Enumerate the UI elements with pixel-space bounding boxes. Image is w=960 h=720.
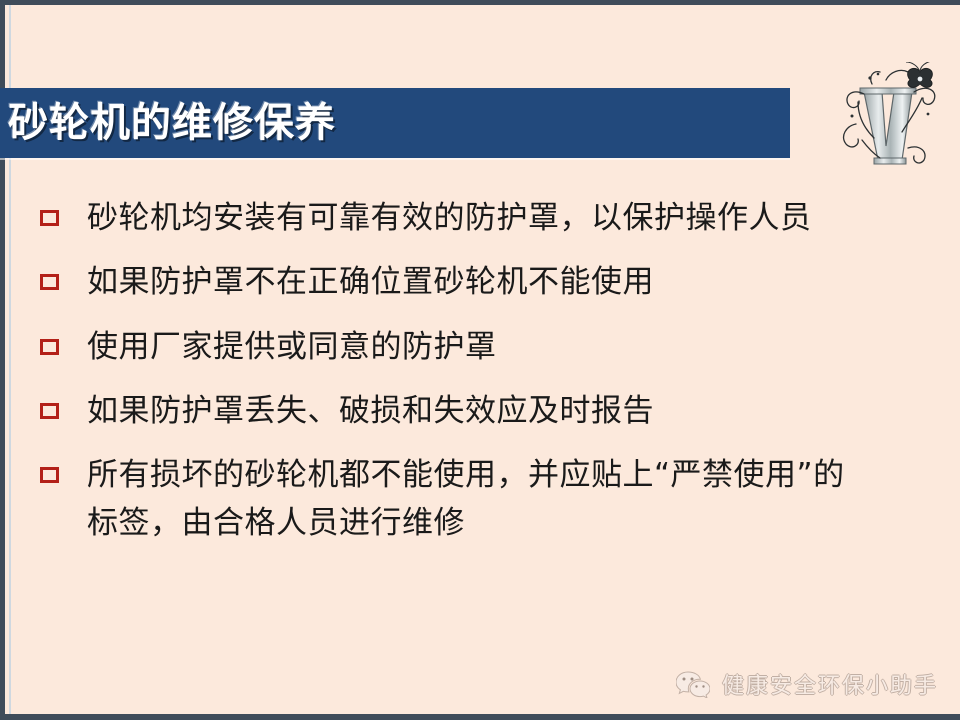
list-item: 使用厂家提供或同意的防护罩: [40, 327, 930, 367]
page-title: 砂轮机的维修保养: [8, 103, 336, 143]
bullet-square-icon: [40, 467, 59, 483]
list-item-text: 如果防护罩不在正确位置砂轮机不能使用: [87, 262, 930, 302]
list-item-text-line2: 标签，由合格人员进行维修: [87, 503, 930, 543]
list-item-text: 砂轮机均安装有可靠有效的防护罩，以保护操作人员: [87, 198, 930, 238]
slide-canvas: 砂轮机的维修保养: [0, 0, 960, 720]
wechat-icon: [676, 670, 710, 698]
bullet-square-icon: [40, 339, 59, 355]
bullet-square-icon: [40, 274, 59, 290]
list-item-text: 使用厂家提供或同意的防护罩: [87, 327, 930, 367]
bullet-square-icon: [40, 210, 59, 226]
list-item-text-wrapper: 所有损坏的砂轮机都不能使用，并应贴上“严禁使用”的 标签，由合格人员进行维修: [87, 455, 930, 544]
list-item: 砂轮机均安装有可靠有效的防护罩，以保护操作人员: [40, 198, 930, 238]
watermark: 健康安全环保小助手: [676, 668, 938, 700]
list-item-text-line1: 所有损坏的砂轮机都不能使用，并应贴上“严禁使用”的: [87, 457, 845, 493]
watermark-text: 健康安全环保小助手: [722, 668, 938, 700]
frame-border-bottom: [0, 714, 960, 720]
list-item: 如果防护罩不在正确位置砂轮机不能使用: [40, 262, 930, 302]
frame-border-top: [0, 0, 960, 5]
decorative-ornament-icon: [828, 62, 950, 172]
bullet-list: 砂轮机均安装有可靠有效的防护罩，以保护操作人员 如果防护罩不在正确位置砂轮机不能…: [40, 198, 930, 568]
bullet-square-icon: [40, 403, 59, 419]
list-item: 如果防护罩丢失、破损和失效应及时报告: [40, 391, 930, 431]
list-item-text: 如果防护罩丢失、破损和失效应及时报告: [87, 391, 930, 431]
list-item: 所有损坏的砂轮机都不能使用，并应贴上“严禁使用”的 标签，由合格人员进行维修: [40, 455, 930, 544]
title-banner: 砂轮机的维修保养: [0, 88, 790, 158]
